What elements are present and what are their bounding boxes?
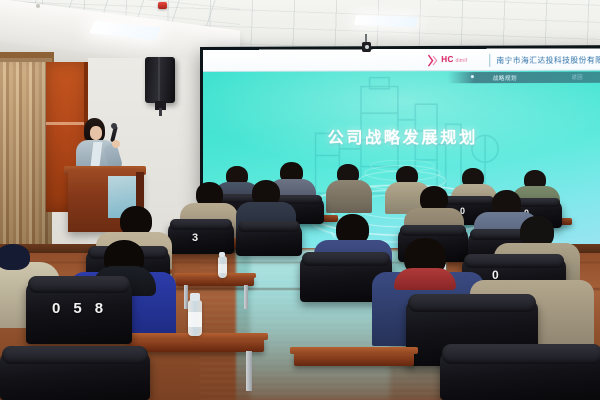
ceiling-camera-lens <box>365 45 369 49</box>
bottle-label <box>188 312 202 327</box>
desk-leg <box>246 351 252 391</box>
sprinkler-icon <box>36 4 40 8</box>
logo-text: HC <box>441 54 453 66</box>
company-name: 南宁市海汇达投科技股份有限公司 <box>496 54 600 66</box>
chair-headrest <box>238 221 300 232</box>
attendee-collar <box>394 268 456 290</box>
presenter-hand <box>112 140 120 148</box>
chair-headrest <box>442 344 600 364</box>
wood-panel-trim <box>46 122 86 125</box>
curtain-shading <box>0 58 52 254</box>
ceiling-light-panel-2 <box>354 15 418 27</box>
chair-number-058: 058 <box>52 300 116 317</box>
slide-tab-label-right[interactable]: 返回 <box>572 73 583 80</box>
slide-tab-label[interactable]: 战略规划 <box>493 73 517 81</box>
wall-speaker-seam <box>158 57 160 103</box>
attendee-head <box>0 244 30 270</box>
chair-headrest <box>408 294 536 312</box>
chair-headrest <box>464 254 564 268</box>
chair-headrest <box>170 219 232 230</box>
desk-surface <box>174 273 256 278</box>
slide-tab-bullet-icon <box>471 75 474 78</box>
chair-number: 3 <box>192 232 201 244</box>
presentation-room-photo: 公司战略发展规划 HC dimif 南宁市海汇达投科技股份有限公司 战略规划 返… <box>0 0 600 400</box>
desk-surface <box>290 347 418 354</box>
desk-leg <box>244 285 248 309</box>
presenter-face <box>90 126 102 140</box>
microphone-head <box>111 123 117 129</box>
fire-alarm-icon <box>158 2 167 9</box>
chair-headrest <box>28 276 130 293</box>
slide-title: 公司战略发展规划 <box>203 124 600 148</box>
logo-subtext: dimif <box>456 58 468 64</box>
chair-headrest <box>2 346 148 364</box>
bottle-cap <box>190 293 200 301</box>
desk <box>294 352 414 366</box>
chair-headrest <box>302 252 390 266</box>
wall-speaker-pole <box>159 108 162 116</box>
slide-header-divider <box>489 54 490 67</box>
chair-headrest <box>400 225 466 236</box>
desk <box>128 338 264 352</box>
company-logo-icon <box>427 54 439 67</box>
attendee-body <box>326 180 372 213</box>
wall-speaker-icon <box>145 57 175 103</box>
